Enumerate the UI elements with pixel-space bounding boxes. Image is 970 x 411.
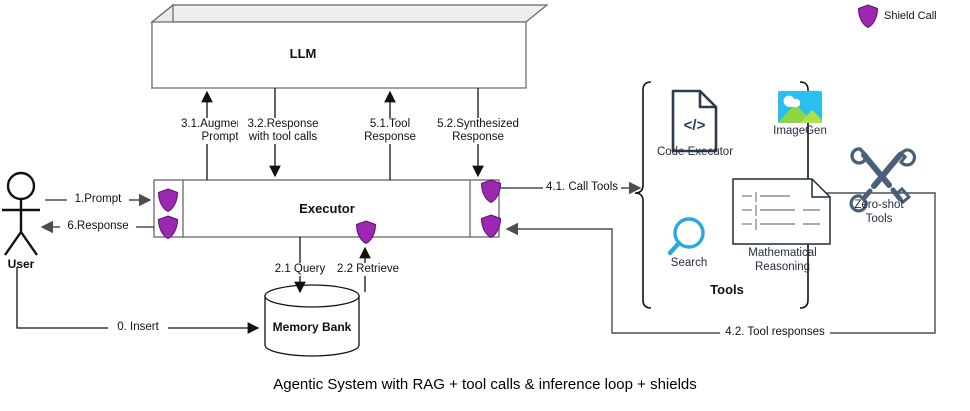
llm-label: LLM bbox=[290, 47, 317, 60]
formula-document-icon bbox=[733, 179, 830, 244]
memory-bank-label: Memory Bank bbox=[273, 321, 352, 334]
edge-label-prompt: 1.Prompt bbox=[67, 193, 129, 206]
edge-label-response: 6.Response bbox=[60, 220, 136, 233]
user-label: User bbox=[8, 258, 35, 271]
code-document-icon: </> bbox=[673, 91, 716, 151]
edge-label-query: 2.1 Query bbox=[270, 263, 330, 276]
shield-icon-executor-memory bbox=[357, 221, 376, 244]
image-icon bbox=[778, 91, 822, 123]
svg-text:</>: </> bbox=[684, 117, 706, 134]
tools-group-label: Tools bbox=[710, 283, 744, 296]
tool-label-code-executor: Code Executor bbox=[653, 146, 737, 160]
edge-label-tool-responses: 4.2. Tool responses bbox=[720, 326, 830, 339]
magnifier-icon bbox=[670, 219, 703, 253]
edge-label-synthesized-response: 5.2.Synthesized Response bbox=[432, 118, 524, 144]
edge-label-response-with-tool-calls: 3.2.Response with tool calls bbox=[238, 118, 328, 144]
edge-insert bbox=[17, 267, 258, 328]
llm-node bbox=[152, 5, 547, 88]
diagram-caption: Agentic System with RAG + tool calls & i… bbox=[0, 376, 970, 393]
edge-label-retrieve: 2.2 Retrieve bbox=[333, 263, 403, 276]
legend-shield-label: Shield Call bbox=[884, 10, 937, 23]
tool-label-mathematical-reasoning: Mathematical Reasoning bbox=[735, 247, 830, 274]
tool-label-search: Search bbox=[653, 257, 725, 271]
diagram-vectors: </> bbox=[0, 0, 970, 411]
shield-icon-legend bbox=[859, 5, 878, 28]
tool-label-imagegen: ImageGen bbox=[760, 125, 840, 139]
executor-label: Executor bbox=[299, 202, 355, 215]
tool-label-zero-shot-tools: Zero-shot Tools bbox=[840, 199, 918, 226]
diagram-canvas: </> bbox=[0, 0, 970, 411]
edge-label-insert: 0. Insert bbox=[108, 321, 168, 334]
edge-label-tool-response: 5.1.Tool Response bbox=[352, 118, 428, 144]
edge-label-call-tools: 4.1. Call Tools bbox=[543, 181, 621, 194]
user-actor bbox=[2, 173, 40, 255]
